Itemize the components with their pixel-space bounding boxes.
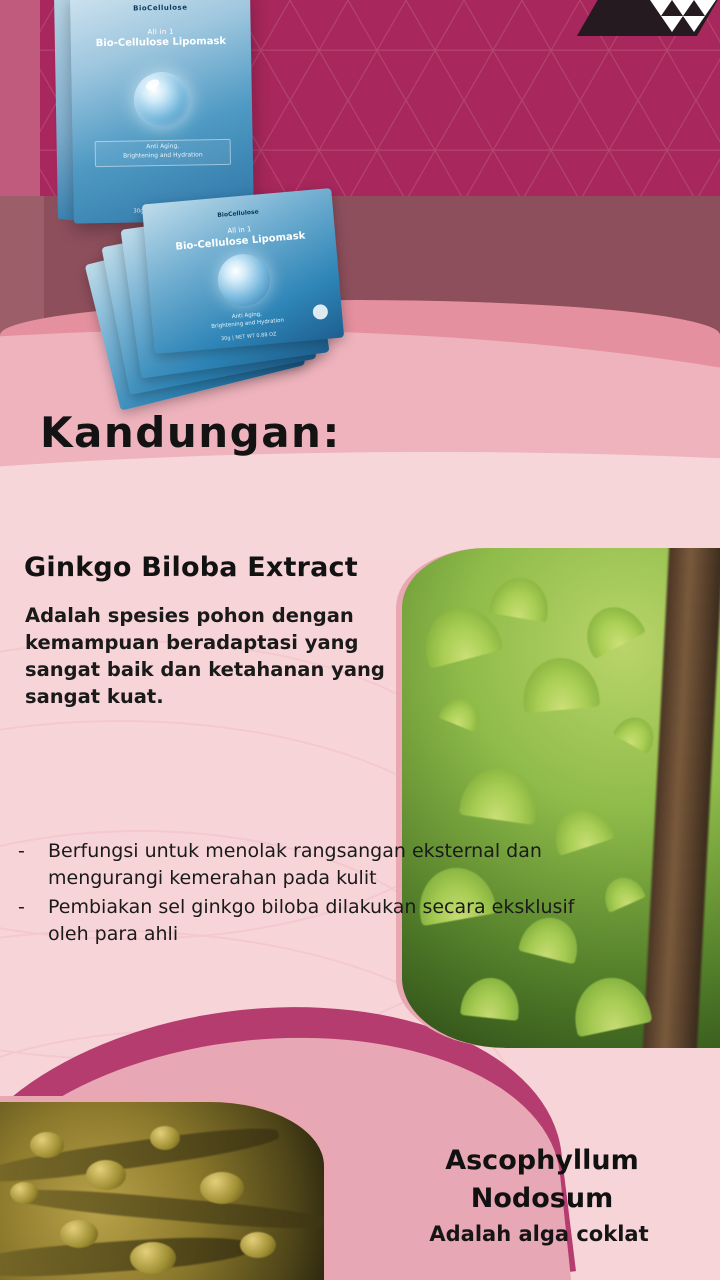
section-body-ascophyllum: Adalah alga coklat	[394, 1222, 684, 1246]
seaweed-bladder	[200, 1172, 244, 1204]
seaweed-bladder	[86, 1160, 126, 1190]
zigzag-triangle	[694, 0, 716, 16]
left-accent-strip	[0, 0, 40, 200]
zigzag-triangle	[650, 0, 672, 16]
ginkgo-leaf	[576, 597, 646, 660]
seaweed-bladder	[60, 1220, 98, 1248]
seaweed-strand	[10, 1184, 330, 1234]
section-body-ginkgo: Adalah spesies pohon dengan kemampuan be…	[25, 602, 385, 710]
water-drop-graphic	[216, 252, 272, 308]
page-title: Kandungan:	[40, 408, 341, 457]
seaweed-bladder	[30, 1132, 64, 1158]
bullet-marker: -	[18, 838, 48, 892]
poster-page: BioCellulose All in 1 Bio-Cellulose Lipo…	[0, 0, 720, 1280]
corner-zigzag-decoration	[570, 0, 720, 42]
ginkgo-leaves-photo	[396, 548, 720, 1048]
seaweed-bladder	[150, 1126, 180, 1150]
tree-trunk	[642, 548, 720, 1048]
zigzag-triangle	[661, 16, 683, 32]
water-drop-graphic	[133, 72, 190, 129]
ginkgo-leaf	[613, 710, 662, 754]
bullet-text: Pembiakan sel ginkgo biloba dilakukan se…	[48, 894, 578, 948]
zigzag-triangle	[683, 16, 705, 32]
ginkgo-leaf	[438, 692, 486, 733]
box-brand-logo: BioCellulose	[70, 2, 250, 13]
ginkgo-leaf	[460, 975, 522, 1021]
section-heading-ginkgo: Ginkgo Biloba Extract	[24, 552, 358, 583]
ginkgo-leaf	[489, 573, 553, 622]
box-title: All in 1 Bio-Cellulose Lipomask	[71, 26, 251, 49]
ginkgo-leaf	[598, 871, 646, 913]
seaweed-photo	[0, 1096, 330, 1280]
list-item: - Berfungsi untuk menolak rangsangan eks…	[18, 838, 578, 892]
sachet-front: BioCellulose All in 1 Bio-Cellulose Lipo…	[142, 188, 344, 354]
seaweed-strand	[0, 1232, 251, 1280]
ginkgo-leaf	[567, 971, 652, 1038]
sachet-stack: BioCellulose All in 1 Bio-Cellulose Lipo…	[96, 172, 496, 422]
box-title-line2: Bio-Cellulose Lipomask	[71, 35, 251, 49]
bullet-marker: -	[18, 894, 48, 948]
box-subtitle: Anti Aging, Brightening and Hydration	[73, 140, 253, 161]
seaweed-bladder	[130, 1242, 176, 1274]
seaweed-bladder	[240, 1232, 276, 1258]
bullet-text: Berfungsi untuk menolak rangsangan ekste…	[48, 838, 578, 892]
list-item: - Pembiakan sel ginkgo biloba dilakukan …	[18, 894, 578, 948]
ginkgo-leaf	[459, 763, 541, 825]
section-heading-ascophyllum: Ascophyllum Nodosum	[392, 1142, 692, 1218]
seaweed-bladder	[10, 1182, 38, 1204]
ginkgo-bullet-list: - Berfungsi untuk menolak rangsangan eks…	[18, 838, 578, 950]
ginkgo-leaf	[520, 655, 600, 713]
zigzag-triangle	[672, 0, 694, 16]
